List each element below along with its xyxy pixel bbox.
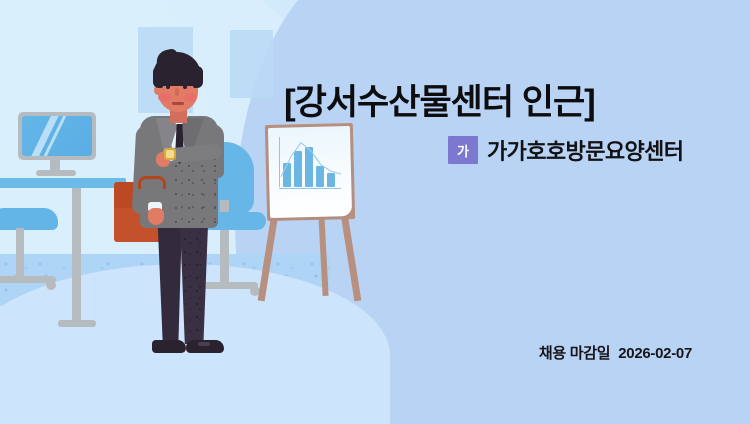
shoe-left [152,340,186,353]
chart-x-axis [279,188,341,189]
cheek-blush-right [184,93,197,102]
desk-leg [72,188,81,324]
chart-trend-curve-icon [281,137,341,187]
businessman-illustration [118,52,258,372]
deadline-date: 2026-02-07 [618,345,692,362]
cheek-blush-left [158,93,171,102]
deadline-label: 채용 마감일 [539,345,610,362]
monitor-screen [22,116,92,156]
job-posting-banner: [강서수산물센터 인근] 가 가가호호방문요양센터 채용 마감일2026-02-… [0,0,750,424]
hand-holding-briefcase [148,208,164,225]
eyebrow-left [164,80,173,83]
sideburn-right [193,66,203,88]
shoe-highlight [198,342,210,346]
flipchart-bar-chart [279,137,341,189]
office-chair-left-wheel [46,280,56,290]
eye-right [183,85,187,89]
deadline-text: 채용 마감일2026-02-07 [539,342,692,363]
sideburn-left [153,66,163,88]
office-chair-left-post [16,228,24,280]
briefcase-handle [138,176,166,189]
desk-top [0,178,126,188]
organization-name: 가가호호방문요양센터 [487,134,683,166]
trouser-left [156,220,182,344]
wristwatch-face-icon [166,150,174,158]
brand-badge-icon: 가 [448,136,478,164]
mouth [172,102,184,105]
nose [175,88,179,96]
office-chair-left-seat [0,208,58,230]
desk-foot [58,320,96,327]
brand-row: 가 가가호호방문요양센터 [448,134,683,166]
eye-left [166,85,170,89]
page-title: [강서수산물센터 인근] [284,74,595,125]
monitor-base [36,170,76,176]
